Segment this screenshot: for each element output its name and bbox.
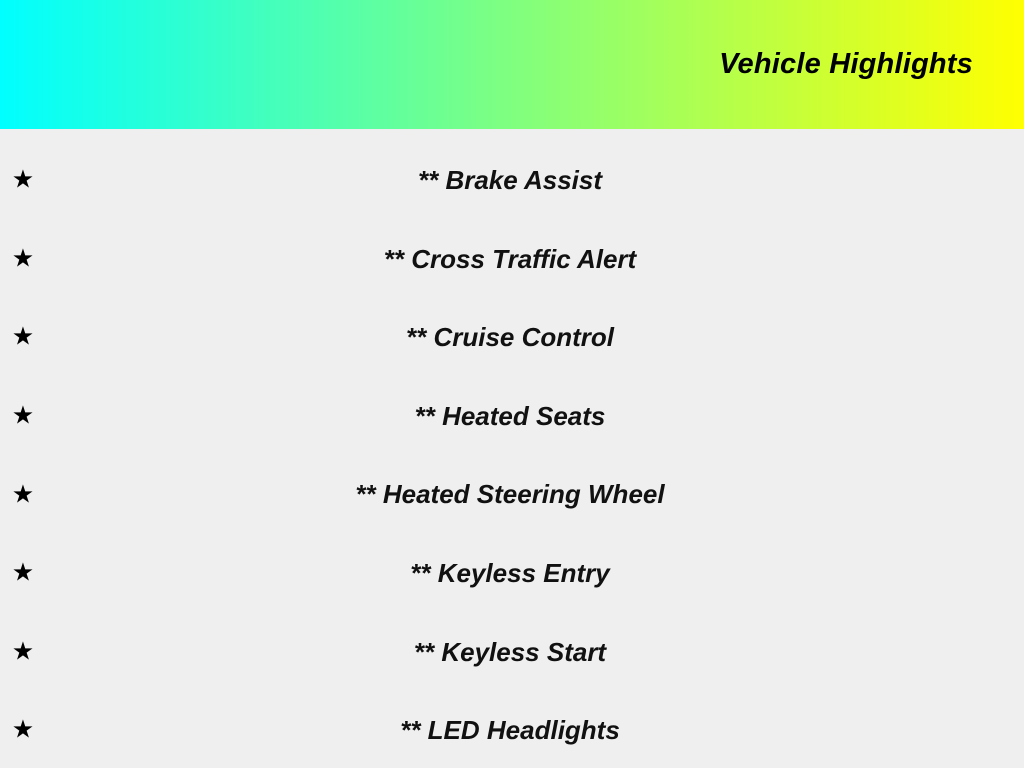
list-item: ★ ** Keyless Start (0, 613, 1024, 692)
highlight-label: ** Keyless Entry (0, 559, 1024, 588)
list-item: ★ ** LED Headlights (0, 691, 1024, 768)
star-icon: ★ (11, 246, 35, 271)
star-icon: ★ (11, 325, 35, 350)
list-item: ★ ** Brake Assist (0, 141, 1024, 220)
star-icon: ★ (11, 404, 35, 429)
list-item: ★ ** Heated Steering Wheel (0, 455, 1024, 534)
star-icon: ★ (11, 561, 35, 586)
star-icon: ★ (11, 639, 35, 664)
list-item: ★ ** Cross Traffic Alert (0, 220, 1024, 299)
list-item: ★ ** Heated Seats (0, 377, 1024, 456)
star-icon: ★ (11, 718, 35, 743)
highlight-label: ** Brake Assist (0, 166, 1024, 195)
highlight-label: ** Keyless Start (0, 638, 1024, 667)
page-title: Vehicle Highlights (719, 50, 1024, 79)
highlight-label: ** Heated Seats (0, 402, 1024, 431)
highlight-label: ** Cross Traffic Alert (0, 245, 1024, 274)
vehicle-highlights-page: Vehicle Highlights ★ ** Brake Assist ★ *… (0, 0, 1024, 768)
highlight-label: ** LED Headlights (0, 716, 1024, 745)
list-item: ★ ** Keyless Entry (0, 534, 1024, 613)
star-icon: ★ (11, 482, 35, 507)
list-item: ★ ** Cruise Control (0, 298, 1024, 377)
highlights-list: ★ ** Brake Assist ★ ** Cross Traffic Ale… (0, 129, 1024, 768)
highlight-label: ** Heated Steering Wheel (0, 480, 1024, 509)
header-banner: Vehicle Highlights (0, 0, 1024, 129)
star-icon: ★ (11, 168, 35, 193)
highlight-label: ** Cruise Control (0, 323, 1024, 352)
